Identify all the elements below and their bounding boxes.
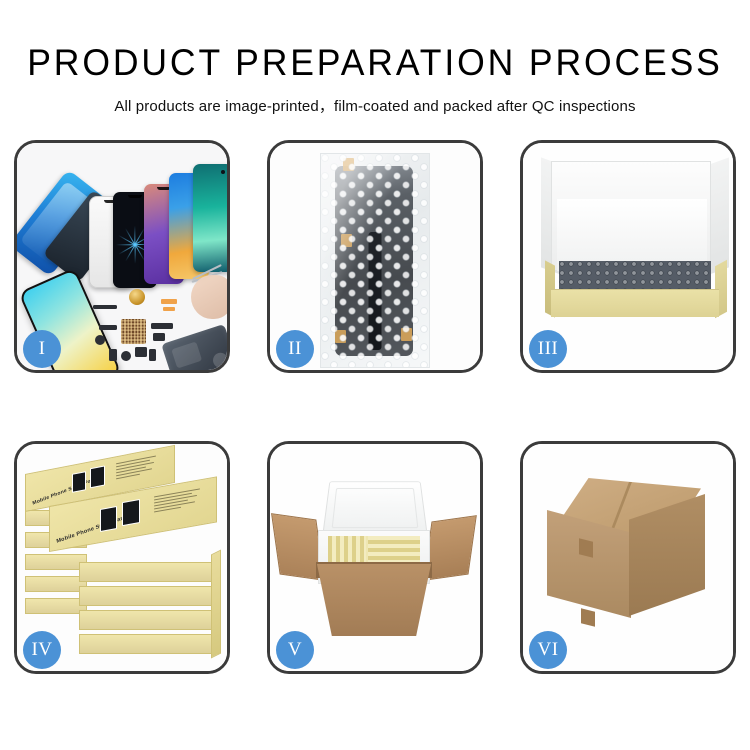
bubble-wrap-bag [320, 153, 430, 368]
step-6-illustration: VI [523, 444, 733, 671]
step-panel-6: VI [520, 441, 736, 674]
small-part [93, 305, 117, 309]
step-4-illustration: Mobile Phone Spare Parts Mobile Phone Sp… [17, 444, 227, 671]
flex-cable-part [163, 307, 175, 311]
small-part [121, 351, 131, 361]
box-screen-image [90, 465, 105, 488]
carton-body [312, 564, 436, 636]
small-part [149, 349, 156, 361]
box-edge [25, 576, 87, 592]
step-panel-5: V [267, 441, 483, 674]
step-1-illustration: I [17, 143, 227, 370]
small-part [153, 333, 165, 341]
box-spec-lines [154, 488, 202, 514]
plastic-gloss [321, 154, 429, 367]
page-title: PRODUCT PREPARATION PROCESS [15, 44, 735, 81]
foam-box-lid [322, 481, 428, 536]
small-part [99, 325, 117, 330]
step-panel-4: Mobile Phone Spare Parts Mobile Phone Sp… [14, 441, 230, 674]
flex-cable-part [161, 299, 177, 304]
step-badge-5: V [276, 631, 314, 669]
product-preparation-page: PRODUCT PREPARATION PROCESS All products… [0, 0, 750, 750]
box-edge [79, 562, 219, 582]
small-part [95, 335, 105, 345]
step-badge-1: I [23, 330, 61, 368]
carton-tab-upper [579, 538, 593, 557]
step-badge-2: II [276, 330, 314, 368]
step-5-illustration: V [270, 444, 480, 671]
box-edge [79, 610, 219, 630]
box-screen-image [100, 506, 117, 532]
step-panel-1: I [14, 140, 230, 373]
box-screen-image [72, 471, 86, 493]
box-lid-right [709, 157, 729, 274]
box-edge [79, 586, 219, 606]
page-subtitle: All products are image-printed，film-coat… [0, 95, 750, 116]
box-edge [25, 554, 87, 570]
step-badge-4: IV [23, 631, 61, 669]
step-badge-6: VI [529, 631, 567, 669]
box-front-panel [551, 289, 719, 317]
gold-coil-part [129, 289, 145, 305]
step-panel-3: III [520, 140, 736, 373]
phone-chassis-part [161, 324, 227, 370]
step-panel-2: II [267, 140, 483, 373]
box-edge [79, 634, 219, 654]
box-screen-image [122, 499, 140, 526]
hand [191, 275, 227, 319]
carton-tab-lower [581, 608, 595, 626]
chip-array-part [121, 319, 146, 344]
header: PRODUCT PREPARATION PROCESS All products… [0, 0, 750, 116]
box-spec-lines [116, 455, 158, 481]
small-part [109, 349, 117, 361]
step-2-illustration: II [270, 143, 480, 370]
teal-gradient-phone [193, 164, 227, 272]
bubble-wrapped-contents [559, 261, 711, 291]
small-part [151, 323, 173, 329]
process-step-grid: I II [14, 140, 736, 680]
step-badge-3: III [529, 330, 567, 368]
box-edge [25, 598, 87, 614]
box-stack-side [211, 550, 221, 659]
small-part [135, 347, 147, 357]
step-3-illustration: III [523, 143, 733, 370]
